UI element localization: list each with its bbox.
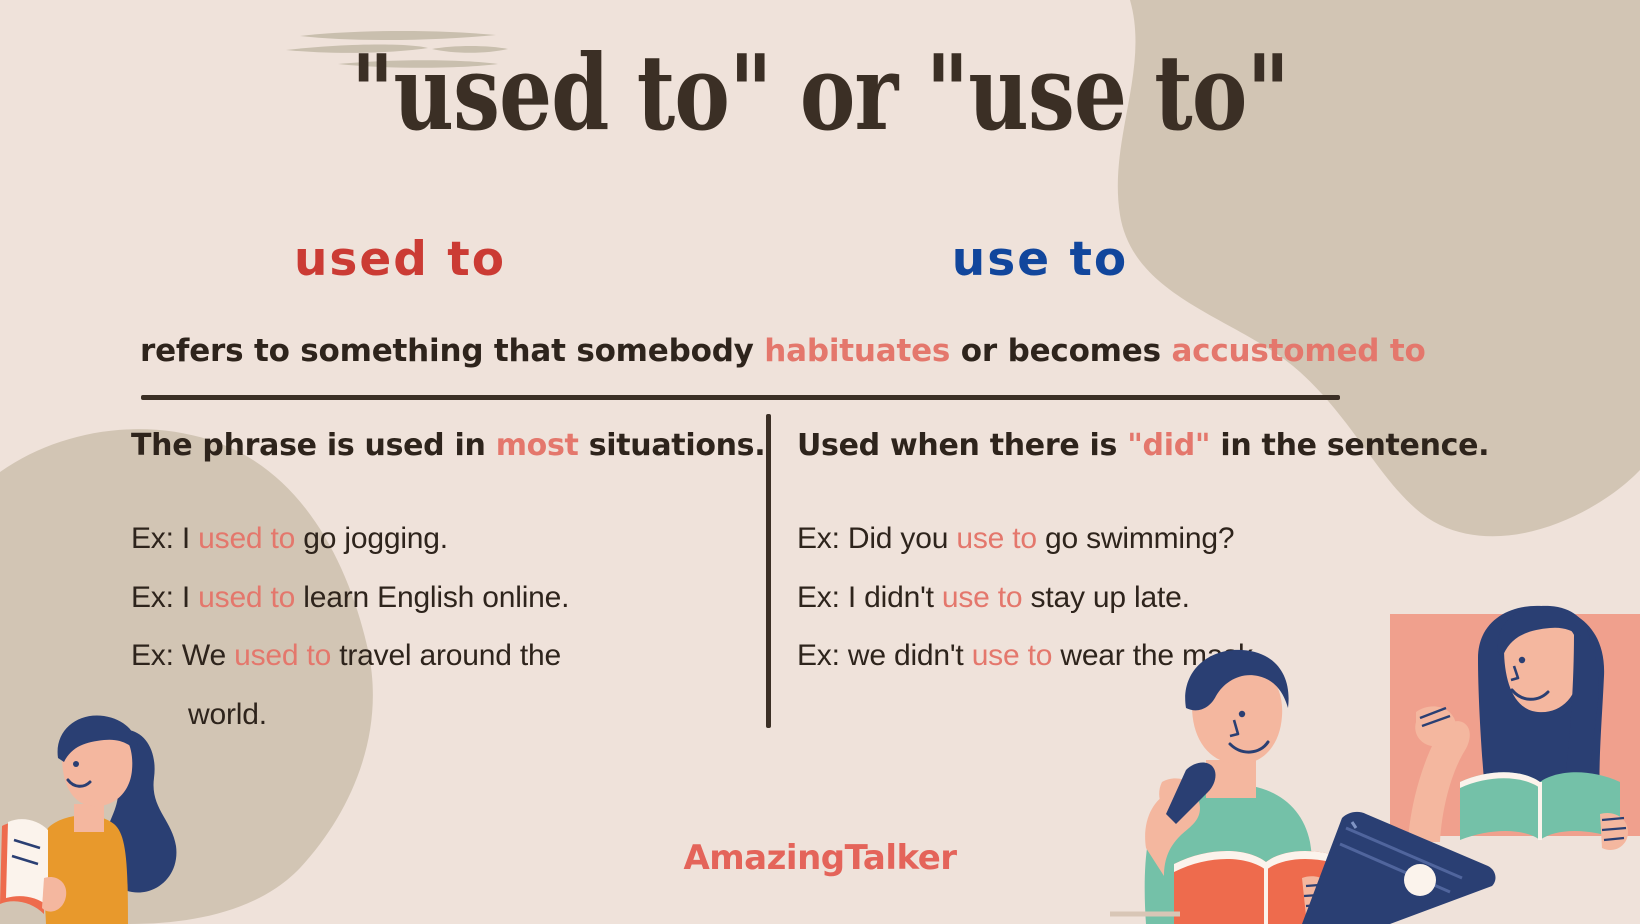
- example-sentence-continuation: world.: [131, 686, 751, 745]
- highlighted-text: use to: [942, 581, 1023, 614]
- boy-hand-line-1: [1306, 884, 1332, 886]
- plain-text: Ex: I: [131, 522, 198, 555]
- plain-text: Ex: I: [131, 581, 198, 614]
- plain-text: The phrase is used in: [131, 428, 496, 463]
- pen-shape: [1166, 763, 1215, 824]
- example-sentence: Ex: I didn't use to stay up late.: [797, 569, 1497, 628]
- woman-finger-2: [1422, 716, 1450, 726]
- column-right-statement: Used when there is "did" in the sentence…: [797, 428, 1497, 464]
- woman-smile-shape: [1512, 690, 1548, 699]
- plain-text: Ex: We: [131, 639, 234, 672]
- woman-eye-shape: [1519, 657, 1525, 663]
- boy-hand-book-shape: [1302, 876, 1336, 918]
- plain-text: Ex: Did you: [797, 522, 956, 555]
- plain-text: go jogging.: [295, 522, 448, 555]
- highlighted-text: use to: [972, 639, 1053, 672]
- woman-hand-line-2: [1602, 828, 1626, 830]
- column-header-used-to: used to: [180, 232, 620, 287]
- plain-text: refers to something that somebody: [140, 333, 764, 369]
- plain-text: wear the mask.: [1052, 639, 1261, 672]
- highlighted-text: accustomed to: [1171, 333, 1425, 369]
- green-book-edge: [1460, 772, 1540, 788]
- column-header-use-to: use to: [820, 232, 1260, 287]
- boy-smile-shape: [1230, 742, 1268, 752]
- column-left-statement: The phrase is used in most situations.: [131, 428, 751, 464]
- plain-text: learn English online.: [295, 581, 569, 614]
- example-sentence: Ex: I used to go jogging.: [131, 510, 751, 569]
- example-sentence: Ex: Did you use to go swimming?: [797, 510, 1497, 569]
- plain-text: Used when there is: [797, 428, 1127, 463]
- plain-text: stay up late.: [1022, 581, 1189, 614]
- boy-hand-shape: [1159, 778, 1199, 818]
- eye-shape: [73, 761, 79, 767]
- plain-text: situations.: [579, 428, 766, 463]
- plain-text: Ex: we didn't: [797, 639, 972, 672]
- infographic-canvas: "used to" or "use to" used to use to ref…: [0, 0, 1640, 924]
- head-shape: [62, 723, 132, 806]
- smile-shape: [68, 780, 90, 786]
- plain-text: in the sentence.: [1210, 428, 1489, 463]
- highlighted-text: used to: [234, 639, 331, 672]
- highlighted-text: use to: [956, 522, 1037, 555]
- plain-text: Ex: I didn't: [797, 581, 942, 614]
- woman-arm-shape: [1408, 721, 1470, 842]
- highlighted-text: "did": [1127, 428, 1210, 463]
- woman-hand-shape: [1415, 706, 1456, 746]
- woman-finger-1: [1420, 708, 1446, 718]
- vertical-divider: [766, 414, 771, 728]
- boy-eye-shape: [1239, 711, 1245, 717]
- plain-text: or becomes: [950, 333, 1171, 369]
- column-left-examples: Ex: I used to go jogging.Ex: I used to l…: [131, 510, 751, 744]
- neck-shape: [74, 804, 104, 832]
- highlighted-text: used to: [198, 581, 295, 614]
- green-book-shape: [1460, 772, 1620, 840]
- highlighted-text: used to: [198, 522, 295, 555]
- plain-text: go swimming?: [1037, 522, 1234, 555]
- column-right-examples: Ex: Did you use to go swimming?Ex: I did…: [797, 510, 1497, 686]
- woman-nose-shape: [1511, 666, 1518, 680]
- woman-bangs-shape: [1498, 606, 1591, 658]
- woman-hair-side-shape: [1562, 632, 1599, 802]
- woman-face-shape: [1504, 617, 1580, 712]
- boy-nose-shape: [1230, 720, 1238, 736]
- highlighted-text: habituates: [764, 333, 950, 369]
- boy-neck-shape: [1206, 760, 1256, 798]
- laptop-screen-inner: [1352, 822, 1356, 828]
- boy-hand-line-2: [1304, 894, 1334, 896]
- highlighted-text: most: [496, 428, 579, 463]
- page-title: "used to" or "use to": [164, 38, 1476, 147]
- definition-line: refers to something that somebody habitu…: [140, 332, 1350, 371]
- example-sentence: Ex: We used to travel around theworld.: [131, 627, 751, 744]
- brand-logo-text: AmazingTalker: [0, 838, 1640, 878]
- hand-shape: [42, 877, 66, 912]
- column-left: The phrase is used in most situations. E…: [131, 428, 751, 744]
- woman-hand-line-1: [1602, 818, 1624, 820]
- example-sentence: Ex: I used to learn English online.: [131, 569, 751, 628]
- hair-shape: [58, 715, 139, 762]
- plain-text: travel around the: [331, 639, 561, 672]
- column-right: Used when there is "did" in the sentence…: [797, 428, 1497, 686]
- example-sentence: Ex: we didn't use to wear the mask.: [797, 627, 1497, 686]
- boy-hand-line-3: [1306, 904, 1332, 906]
- horizontal-divider: [141, 395, 1340, 400]
